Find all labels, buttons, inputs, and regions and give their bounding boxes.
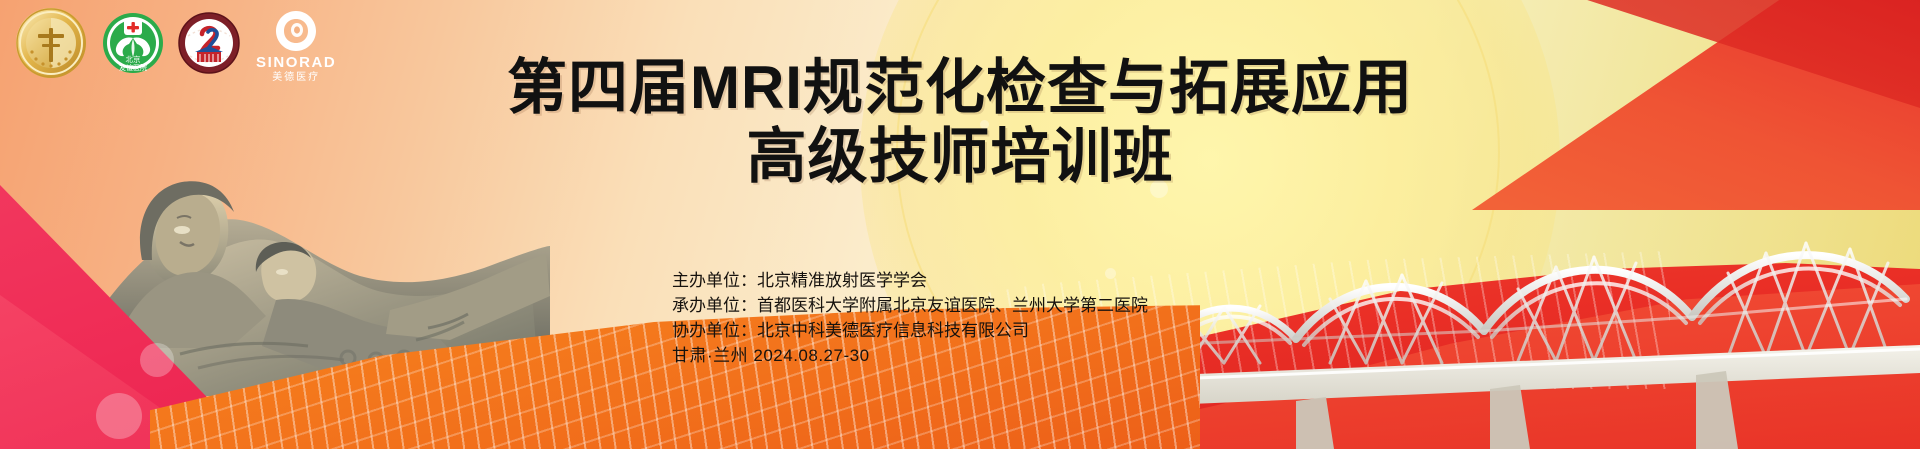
event-banner: 北京 友谊医院 [0, 0, 1920, 449]
pink-bokeh-dot [214, 407, 232, 425]
yellow-river-mother-sculpture-illustration [30, 96, 550, 396]
maroon-circle-emblem-icon [178, 12, 240, 74]
pink-bokeh-dot [96, 393, 142, 439]
green-circle-dove-cross-icon: 北京 友谊医院 [102, 12, 164, 74]
sinorad-eye-mark-icon [273, 9, 319, 53]
info-line-cohost: 协办单位：北京中科美德医疗信息科技有限公司 [672, 318, 1148, 343]
friendship-hospital-label-line1: 北京 [126, 54, 141, 64]
red-ribbon-top-right-inner [1400, 0, 1920, 150]
sinorad-logo: SINORAD 美德医疗 [256, 9, 336, 83]
info-line-venue-date: 甘肃·兰州 2024.08.27-30 [672, 343, 1148, 368]
bokeh-dot [980, 120, 989, 129]
sinorad-wordmark: SINORAD [256, 55, 336, 70]
beijing-friendship-hospital-logo: 北京 友谊医院 [102, 12, 164, 79]
banner-info-block: 主办单位：北京精准放射医学学会 承办单位：首都医科大学附属北京友谊医院、兰州大学… [672, 268, 1148, 368]
sponsor-logo-row: 北京 友谊医院 [14, 6, 336, 85]
lanzhou-university-second-hospital-logo [178, 12, 240, 79]
gold-medallion-icon [14, 6, 88, 80]
beijing-precision-radiology-society-logo [14, 6, 88, 85]
info-line-host: 承办单位：首都医科大学附属北京友谊医院、兰州大学第二医院 [672, 293, 1148, 318]
info-line-organizer: 主办单位：北京精准放射医学学会 [672, 268, 1148, 293]
friendship-hospital-label-line2: 友谊医院 [119, 63, 147, 72]
sinorad-subtext: 美德医疗 [272, 72, 320, 83]
zhongshan-bridge-illustration [1060, 149, 1920, 449]
